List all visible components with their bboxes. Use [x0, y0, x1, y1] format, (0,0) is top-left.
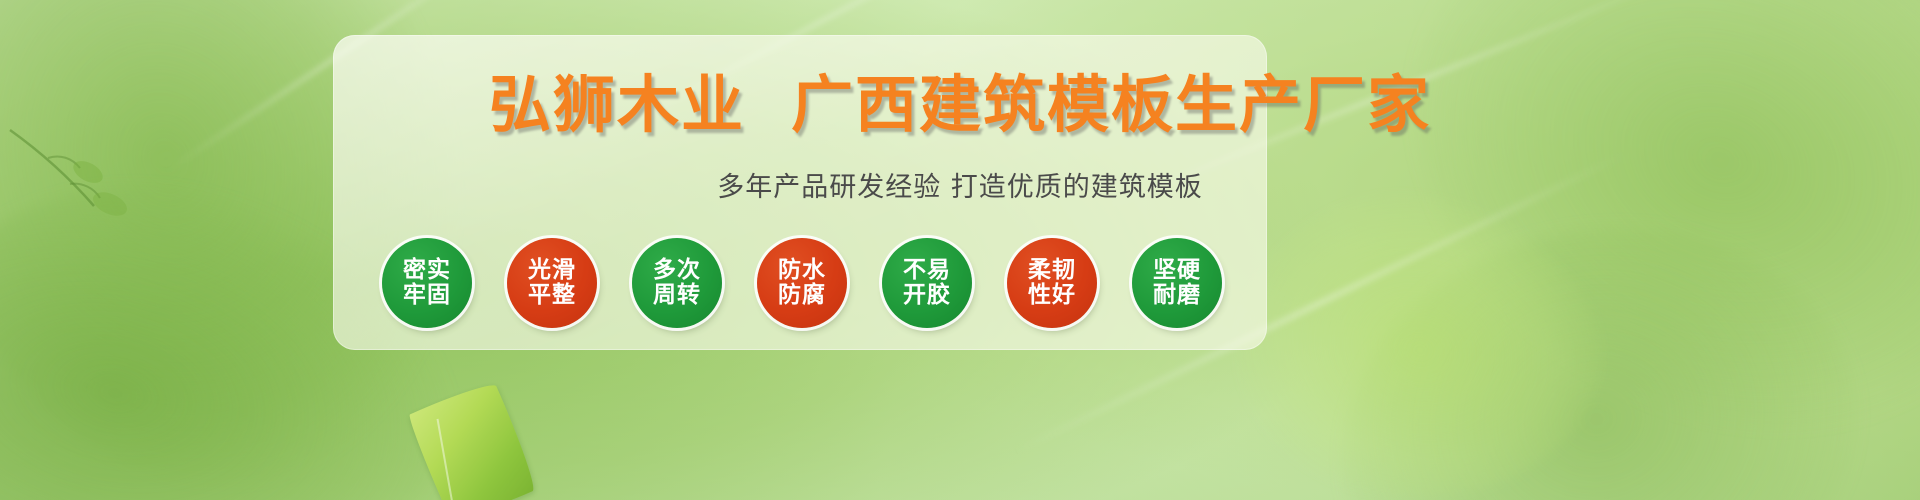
badge-line-2: 牢固 [403, 283, 451, 308]
page-title: 弘狮木业广西建筑模板生产厂家 [0, 54, 1920, 144]
feature-badge-6: 柔韧 性好 [1007, 238, 1097, 328]
badge-line-1: 防水 [778, 258, 826, 283]
feature-badge-3: 多次 周转 [632, 238, 722, 328]
headline-tagline: 广西建筑模板生产厂家 [791, 68, 1431, 141]
badge-line-2: 周转 [653, 283, 701, 308]
feature-badge-1: 密实 牢固 [382, 238, 472, 328]
badge-line-1: 多次 [653, 258, 701, 283]
badge-line-1: 光滑 [528, 258, 576, 283]
feature-badge-row: 密实 牢固 光滑 平整 多次 周转 防水 防腐 不易 开胶 柔韧 性好 坚硬 耐… [382, 238, 1222, 328]
badge-line-1: 坚硬 [1153, 258, 1201, 283]
page-subtitle: 多年产品研发经验 打造优质的建筑模板 [0, 165, 1920, 204]
badge-line-1: 柔韧 [1028, 258, 1076, 283]
headline-company-name: 弘狮木业 [489, 68, 745, 141]
promo-banner: 弘狮木业广西建筑模板生产厂家 多年产品研发经验 打造优质的建筑模板 密实 牢固 … [0, 0, 1920, 500]
feature-badge-2: 光滑 平整 [507, 238, 597, 328]
feature-badge-7: 坚硬 耐磨 [1132, 238, 1222, 328]
feature-badge-5: 不易 开胶 [882, 238, 972, 328]
badge-line-2: 性好 [1028, 283, 1076, 308]
badge-line-2: 耐磨 [1153, 283, 1201, 308]
badge-line-1: 不易 [903, 258, 951, 283]
feature-badge-4: 防水 防腐 [757, 238, 847, 328]
badge-line-2: 防腐 [778, 283, 826, 308]
badge-line-2: 开胶 [903, 283, 951, 308]
badge-line-2: 平整 [528, 283, 576, 308]
badge-line-1: 密实 [403, 258, 451, 283]
